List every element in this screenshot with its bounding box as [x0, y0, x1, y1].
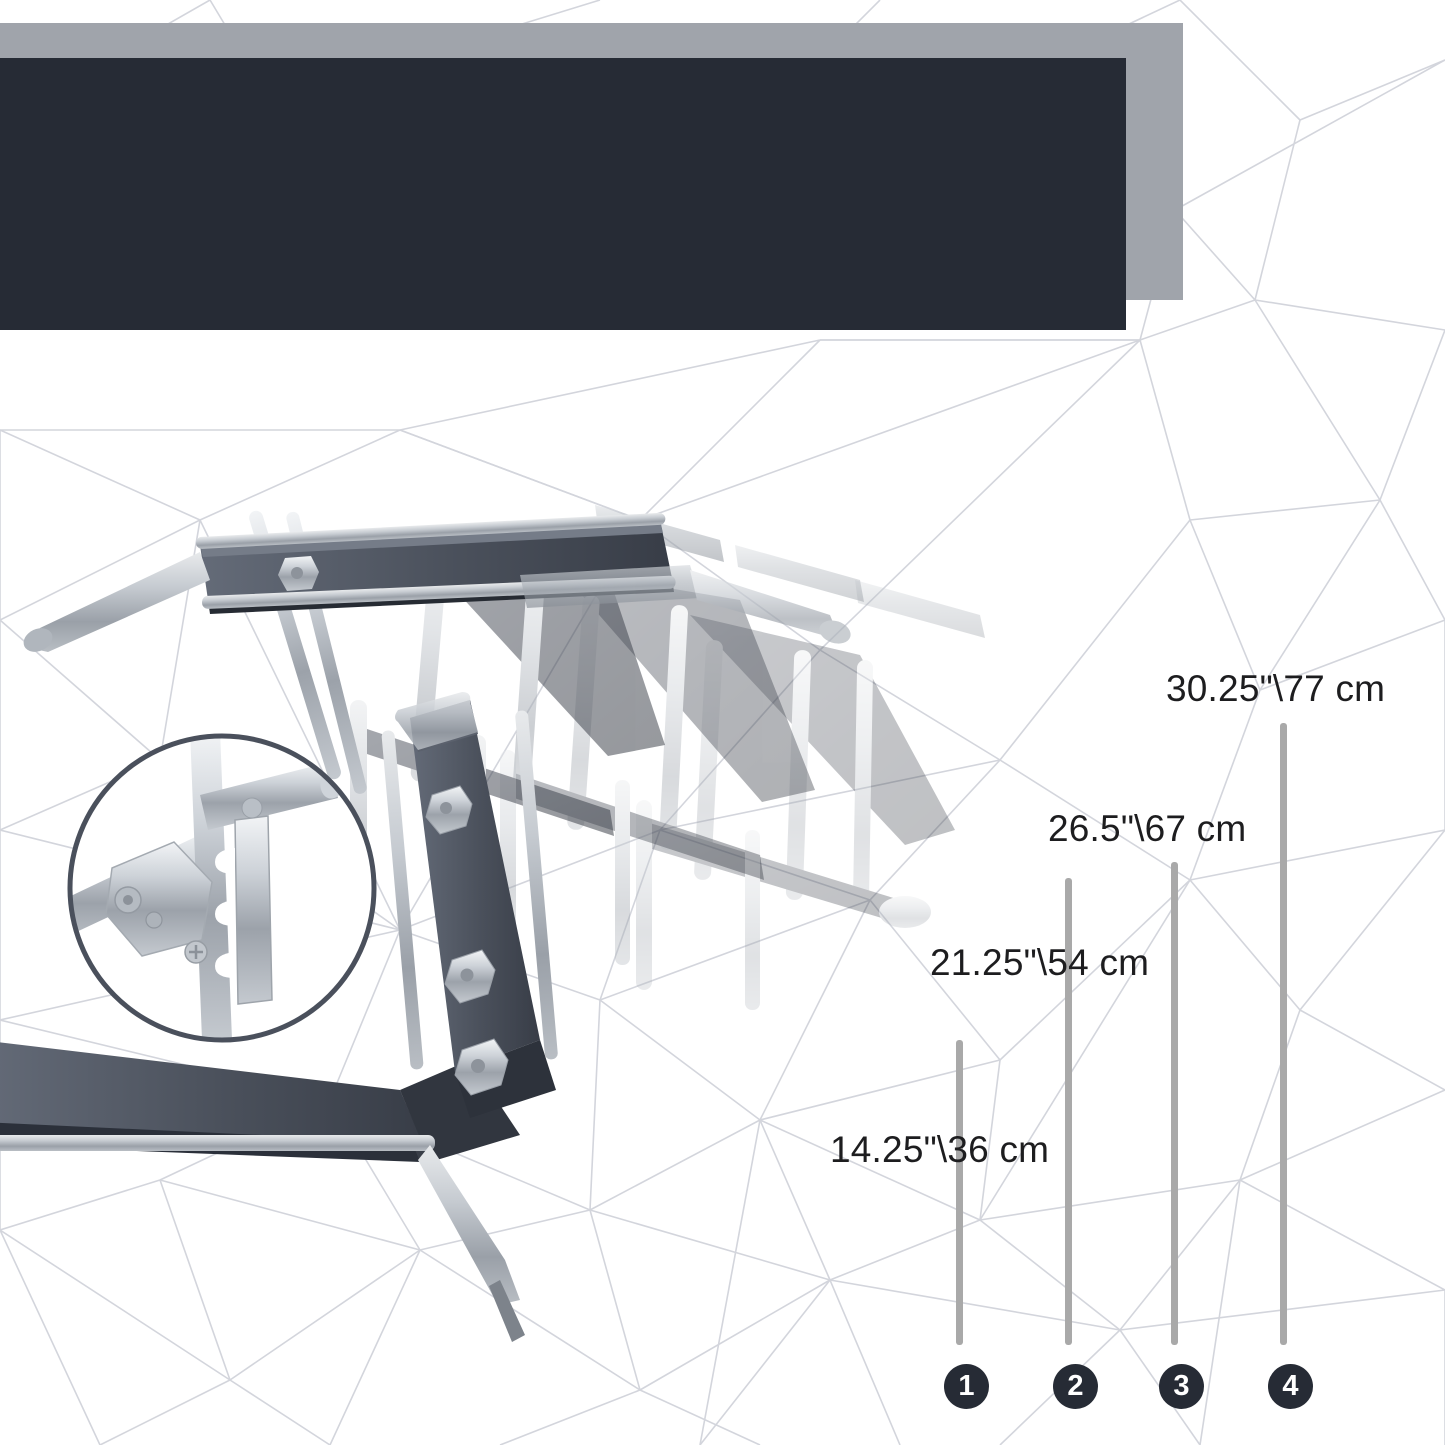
seat-base-frame [0, 1040, 525, 1342]
header-banner [0, 58, 1126, 330]
backrest-latch-detail [20, 730, 374, 1040]
infographic-page: 4-LEVEL BACKREST You can always find the… [0, 0, 1445, 1445]
product-illustration [0, 400, 1000, 1400]
